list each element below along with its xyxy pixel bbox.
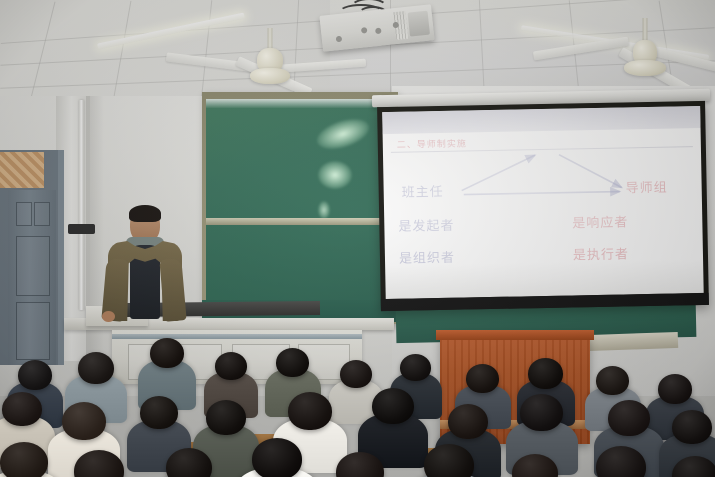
presenter-arm-right <box>159 258 186 322</box>
slide-row1-right: 是响应者 <box>572 211 628 231</box>
audience-person-head <box>215 352 247 380</box>
audience-person-head <box>288 392 332 430</box>
audience-person-head <box>18 360 52 390</box>
audience-person-head <box>372 388 414 424</box>
slide-arrow-diagram <box>382 106 704 299</box>
audience-person-head <box>206 400 246 435</box>
audience-person-head <box>596 366 629 395</box>
audience-person-head <box>608 400 650 436</box>
slide-row2-right: 是执行者 <box>573 243 629 263</box>
projection-screen[interactable]: 二、导师制实施 班主任 导师组 是发起者 是响应者 是组织者 <box>377 101 709 311</box>
chalkboard <box>206 99 394 319</box>
audience <box>0 330 715 477</box>
pole-bracket <box>68 224 95 234</box>
audience-person-head <box>78 352 114 384</box>
slide-node-left: 班主任 <box>402 181 444 201</box>
presenter-hair <box>129 205 161 222</box>
slide-row1-left: 是发起者 <box>398 215 454 235</box>
support-pole <box>79 100 84 310</box>
audience-person-head <box>140 396 178 429</box>
audience-person-head <box>400 354 431 381</box>
audience-person-head <box>448 404 488 439</box>
audience-person-head <box>528 358 563 389</box>
audience-person-head <box>252 438 302 477</box>
chalkboard-rail <box>206 218 394 225</box>
audience-person-head <box>658 374 692 404</box>
chalkboard-top-highlight <box>206 99 394 108</box>
audience-person-head <box>340 360 372 388</box>
audience-person-head <box>520 394 563 431</box>
classroom-photo: 二、导师制实施 班主任 导师组 是发起者 是响应者 是组织者 <box>0 0 715 477</box>
slide-row2-left: 是组织者 <box>399 247 455 267</box>
ceiling-fan-right <box>575 18 715 84</box>
audience-person-head <box>672 410 712 444</box>
audience-person-head <box>62 402 106 440</box>
audience-person-head <box>466 364 499 393</box>
presenter <box>104 207 184 319</box>
projector-lens <box>408 11 430 37</box>
audience-person-head <box>276 348 309 377</box>
presenter-hand <box>102 311 115 322</box>
slide-node-right: 导师组 <box>625 177 667 197</box>
audience-person-head <box>2 392 42 426</box>
ceiling-fan-left <box>200 28 340 90</box>
projected-slide: 二、导师制实施 班主任 导师组 是发起者 是响应者 是组织者 <box>382 106 704 299</box>
audience-person-head <box>150 338 184 368</box>
screen-surface: 二、导师制实施 班主任 导师组 是发起者 是响应者 是组织者 <box>382 106 704 299</box>
audience-person-head <box>0 442 48 477</box>
